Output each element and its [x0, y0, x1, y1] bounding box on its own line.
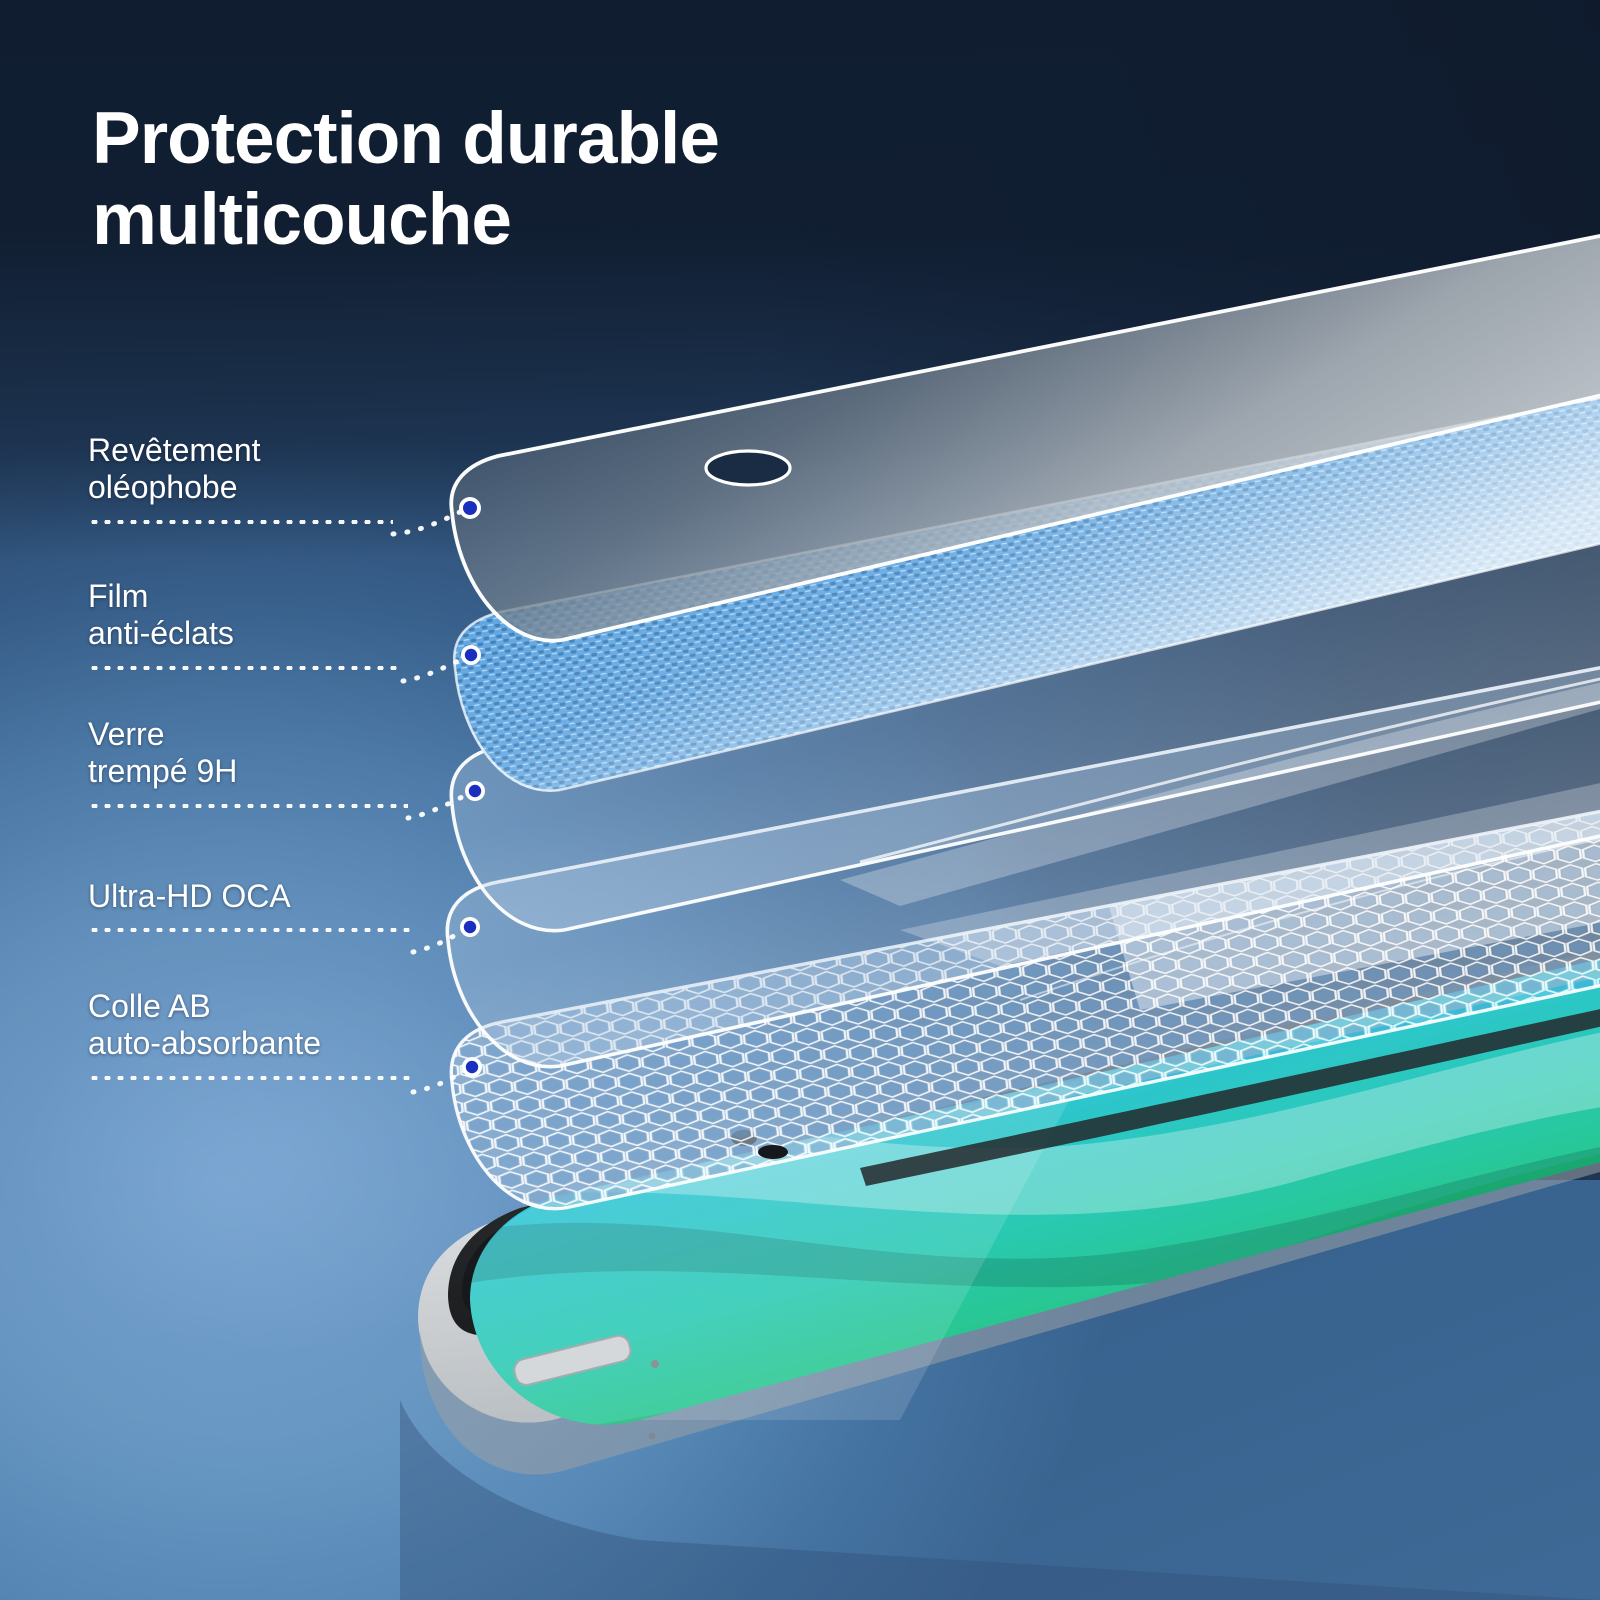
callout-label-list: Revêtement oléophobe Film anti-éclats Ve… — [0, 0, 620, 1600]
callout-ab-adhesive: Colle AB auto-absorbante — [88, 988, 518, 1080]
infographic-canvas: Protection durable multicouche Revêtemen… — [0, 0, 1600, 1600]
callout-leader-line — [88, 1076, 413, 1080]
callout-label: Verre trempé 9H — [88, 716, 518, 791]
ab-adhesive-speck — [758, 1145, 788, 1159]
callout-oleophobic-coating: Revêtement oléophobe — [88, 432, 518, 524]
camera-cutout — [706, 451, 790, 485]
phone-mic-hole — [651, 1360, 659, 1368]
callout-leader-line — [88, 520, 393, 524]
callout-tempered-glass-9h: Verre trempé 9H — [88, 716, 518, 808]
callout-label: Revêtement oléophobe — [88, 432, 518, 507]
callout-ultra-hd-oca: Ultra-HD OCA — [88, 878, 518, 932]
callout-label: Film anti-éclats — [88, 578, 518, 653]
callout-leader-line — [88, 928, 413, 932]
callout-anti-shatter-film: Film anti-éclats — [88, 578, 518, 670]
callout-leader-line — [88, 804, 408, 808]
callout-label: Colle AB auto-absorbante — [88, 988, 518, 1063]
callout-leader-line — [88, 666, 403, 670]
callout-label: Ultra-HD OCA — [88, 878, 518, 915]
phone-secondary-hole — [649, 1433, 656, 1440]
